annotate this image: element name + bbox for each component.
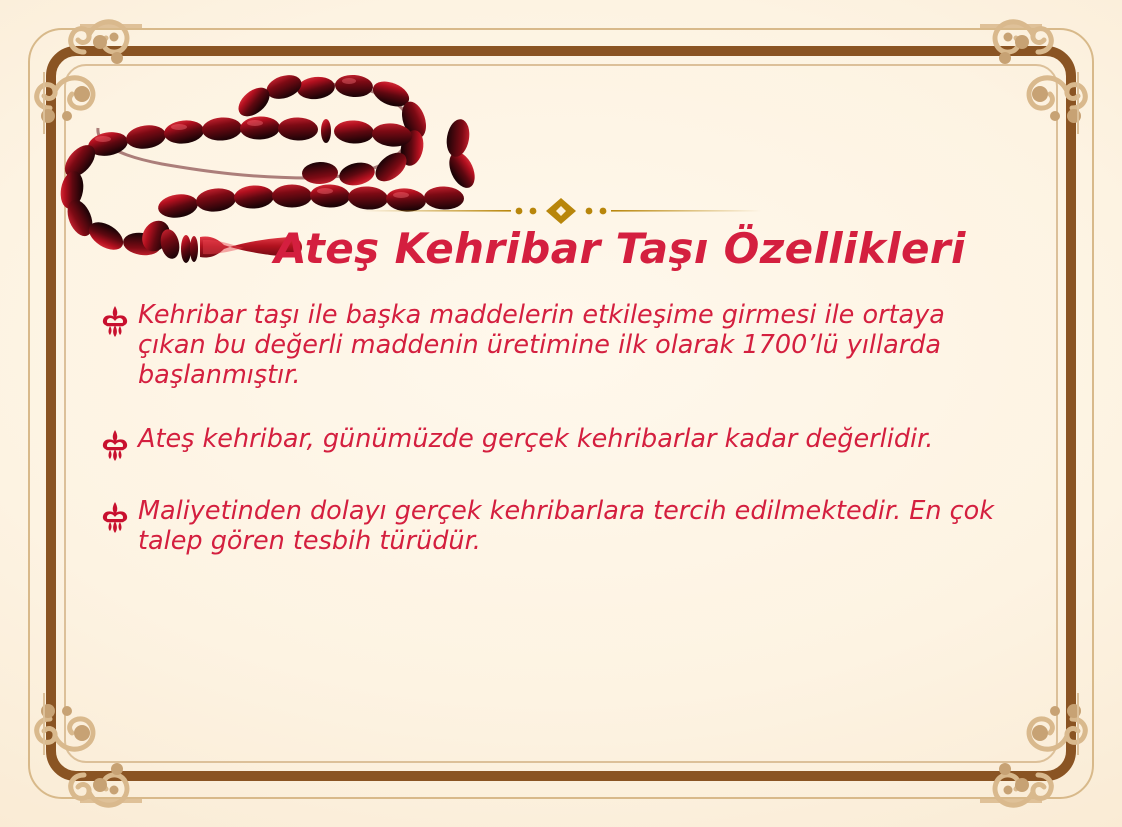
- corner-flourish-top-left-icon: [14, 12, 142, 134]
- poster-page: Ateş Kehribar Taşı Özellikleri Kehri: [0, 0, 1122, 827]
- list-item: Maliyetinden dolayı gerçek kehribarlara …: [100, 496, 1052, 556]
- page-title: Ateş Kehribar Taşı Özellikleri: [0, 224, 1122, 273]
- features-list: Kehribar taşı ile başka maddelerin etkil…: [100, 300, 1052, 590]
- corner-flourish-bottom-right-icon: [980, 693, 1108, 815]
- diamond-divider-icon: [361, 196, 761, 226]
- list-item-text: Kehribar taşı ile başka maddelerin etkil…: [130, 300, 1018, 390]
- list-item: Kehribar taşı ile başka maddelerin etkil…: [100, 300, 1052, 390]
- corner-flourish-top-right-icon: [980, 12, 1108, 134]
- corner-flourish-bottom-left-icon: [14, 693, 142, 815]
- fleur-de-lis-icon: [100, 304, 130, 338]
- list-item: Ateş kehribar, günümüzde gerçek kehribar…: [100, 424, 1052, 462]
- fleur-de-lis-icon: [100, 500, 130, 534]
- list-item-text: Ateş kehribar, günümüzde gerçek kehribar…: [130, 424, 1038, 454]
- fleur-de-lis-icon: [100, 428, 130, 462]
- list-item-text: Maliyetinden dolayı gerçek kehribarlara …: [130, 496, 1052, 556]
